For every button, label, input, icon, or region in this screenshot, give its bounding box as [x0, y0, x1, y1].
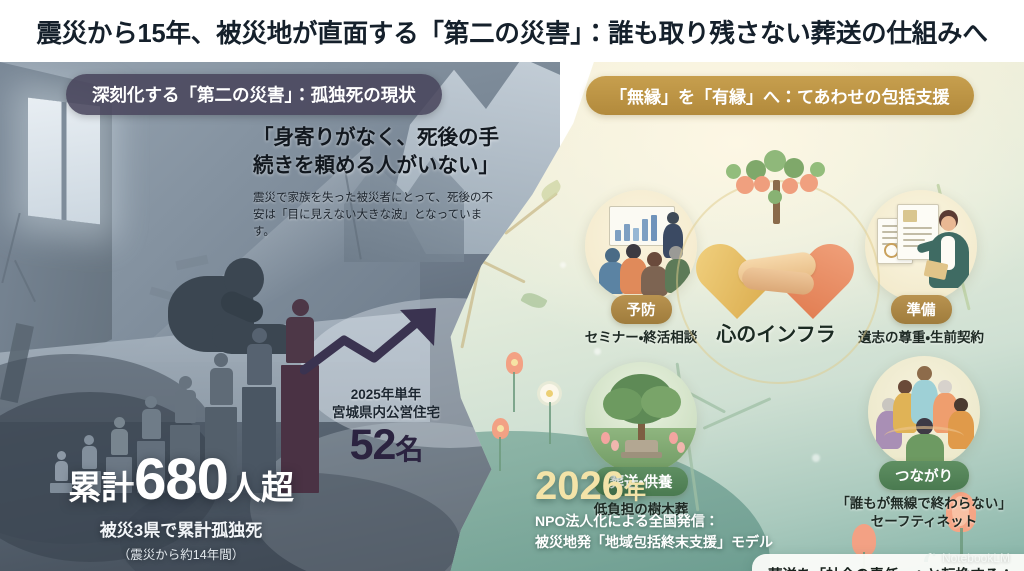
year-line-1: NPO法人化による全国発信： — [535, 511, 773, 531]
flower-stem — [513, 372, 515, 412]
stat-subtitle: 被災3県で累計孤独死 — [26, 516, 336, 541]
watermark: NotebookLM — [923, 551, 1010, 565]
node-badge: つながり — [879, 461, 969, 490]
year-line-2: 被災地発「地域包括終末支援」モデル — [535, 532, 773, 552]
window-icon — [28, 98, 100, 225]
document-contract-icon — [865, 190, 977, 302]
sparkle — [812, 454, 820, 462]
left-section-header-pill: 深刻化する「第二の災害」：孤独死の現状 — [66, 74, 442, 115]
leaf-decoration — [520, 289, 547, 312]
node-caption: 遺志の尊重・生前契約 — [846, 329, 996, 347]
notebooklm-icon — [923, 552, 937, 564]
stat-number: 680 — [134, 447, 228, 512]
trend-up-arrow-icon — [300, 304, 472, 380]
callout-line-2: 宮城県内公営住宅 — [298, 404, 474, 422]
quote-text: 「身寄りがなく、死後の手続きを頼める人がいない」 — [253, 124, 503, 180]
poster-title-bar: 震災から15年、被災地が直面する「第二の災害」：誰も取り残さない葬送の仕組みへ — [0, 0, 1024, 62]
stat-suffix: 人超 — [228, 469, 294, 506]
year-unit: 年 — [624, 479, 646, 504]
sparkle — [594, 348, 601, 355]
watermark-label: NotebookLM — [942, 551, 1010, 565]
flower-stem — [499, 437, 501, 471]
statement-line-1: 葬送を「社会の責任」へと転換する： — [768, 566, 1024, 571]
handshake-heart-tree-icon — [688, 196, 864, 304]
callout-line-1: 2025年単年 — [298, 386, 474, 404]
milestone-year-block: 2026年 NPO法人化による全国発信： 被災地発「地域包括終末支援」モデル — [535, 466, 773, 553]
flower-stem — [549, 402, 551, 444]
node-caption: 「誰もが無線で終わらない」 セーフティネット — [834, 495, 1014, 530]
cumulative-stat: 累計680人超 被災3県で累計孤独死 （震災から約14年間） — [26, 451, 336, 563]
quote-block: 「身寄りがなく、死後の手続きを頼める人がいない」 震災で家族を失った被災者にとっ… — [253, 124, 503, 242]
memorial-tree-icon — [585, 362, 697, 474]
right-section-header-pill: 「無縁」を「有縁」へ：てあわせの包括支援 — [586, 76, 974, 115]
node-badge: 準備 — [891, 295, 952, 324]
center-concept: 心のインフラ — [688, 196, 864, 347]
poster-stage: 2025年単年 宮城県内公営住宅 52名 累計680人超 被災3県で累計孤独死 … — [0, 62, 1024, 571]
annual-callout: 2025年単年 宮城県内公営住宅 52名 — [298, 320, 474, 467]
infographic-poster: 震災から15年、被災地が直面する「第二の災害」：誰も取り残さない葬送の仕組みへ — [0, 0, 1024, 571]
stat-note: （震災から約14年間） — [26, 544, 336, 563]
callout-unit: 名 — [395, 434, 422, 465]
node-badge: 予防 — [611, 295, 672, 324]
quote-note: 震災で家族を失った被災者にとって、死後の不安は「目に見えない大きな波」となってい… — [253, 190, 503, 242]
year-number: 2026 — [535, 464, 624, 508]
community-circle-icon — [868, 356, 980, 468]
support-node-connection: つながり 「誰もが無線で終わらない」 セーフティネット — [838, 356, 1010, 530]
callout-number: 52 — [350, 421, 396, 469]
poster-title: 震災から15年、被災地が直面する「第二の災害」：誰も取り残さない葬送の仕組みへ — [36, 13, 987, 50]
stat-prefix: 累計 — [68, 469, 134, 506]
